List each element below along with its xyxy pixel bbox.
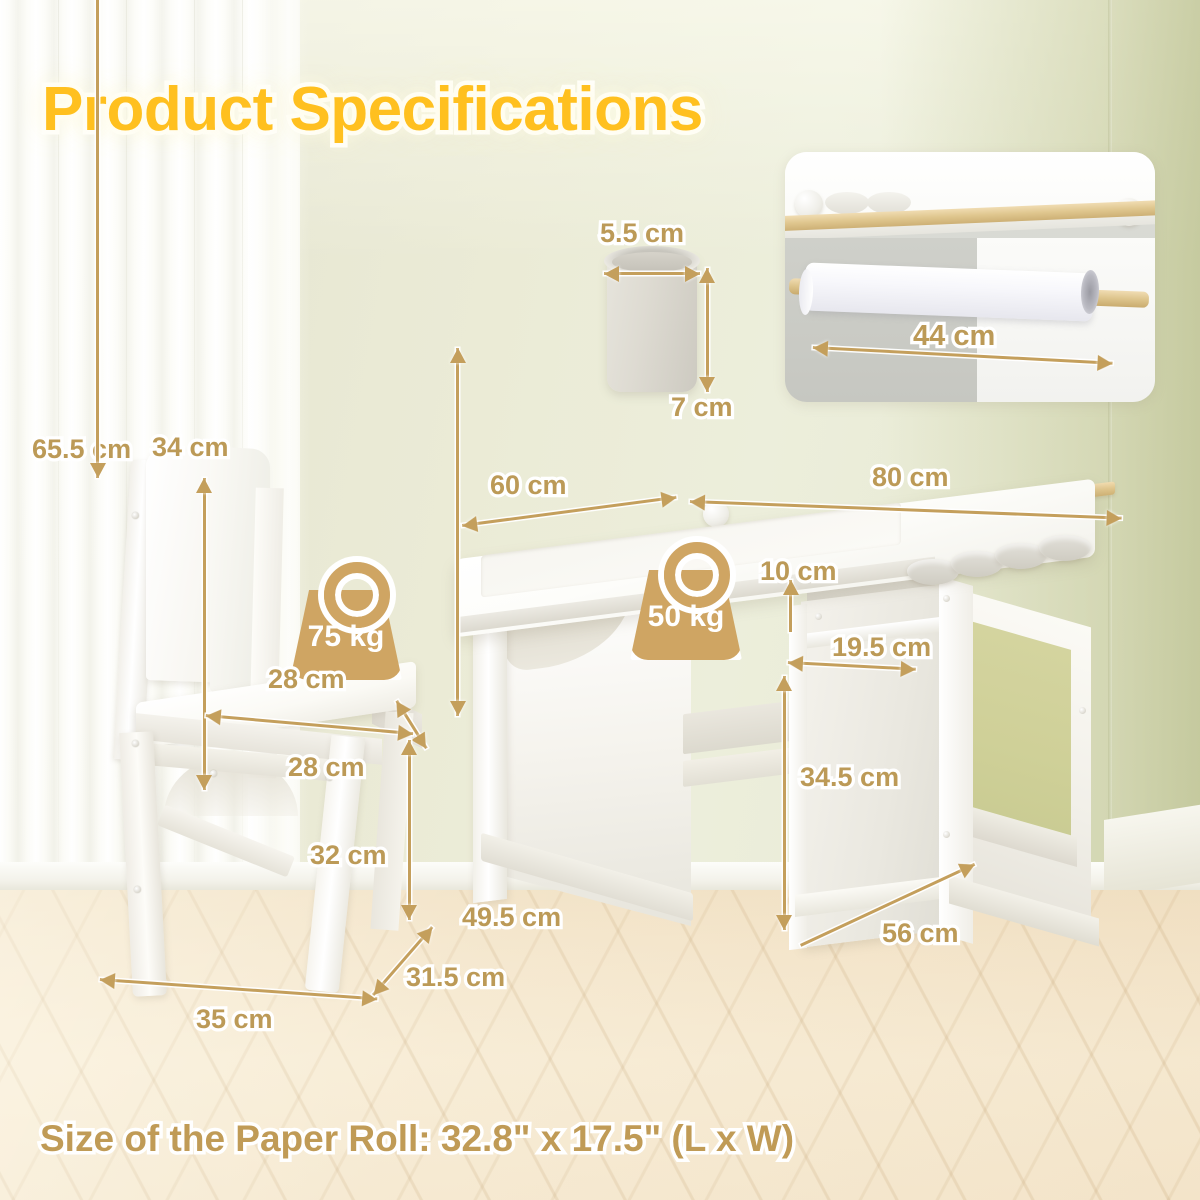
product-specification-image: Product Specifications: [0, 0, 1200, 1200]
desk-weight-capacity-text: 50 kg: [630, 600, 742, 634]
baseboard-right-wall: [1104, 805, 1200, 898]
desk-depth-label: 60 cm: [490, 470, 567, 501]
chair-weight-capacity-text: 75 kg: [290, 620, 402, 654]
desk-screw: [943, 595, 950, 602]
desk-width-label: 80 cm: [872, 462, 949, 493]
chair-base-width-label: 35 cm: [196, 1004, 273, 1035]
desk-height-label: 49.5 cm: [462, 902, 561, 933]
cup-width-label: 5.5 cm: [600, 218, 684, 249]
chair-leg-front-left: [119, 731, 167, 996]
chair-seat-height-label: 32 cm: [310, 840, 387, 871]
desk-screw: [943, 831, 950, 838]
page-title: Product Specifications: [42, 74, 703, 145]
desk-cabinet-depth-label: 56 cm: [882, 918, 959, 949]
paper-roll-length-label: 44 cm: [913, 320, 995, 353]
chair-weight-capacity-badge: 75 kg: [290, 560, 402, 680]
chair-screw: [134, 886, 141, 893]
curtain-fold: [58, 0, 59, 980]
chair-seat-depth-label: 28 cm: [288, 752, 365, 783]
desk-weight-capacity-badge: 50 kg: [630, 540, 742, 660]
desk-cubby-width-label: 19.5 cm: [832, 632, 931, 663]
cup-height-label: 7 cm: [671, 392, 733, 423]
chair-base-depth-label: 31.5 cm: [406, 962, 505, 993]
chair-back-height-label: 34 cm: [152, 432, 229, 463]
chair-screw: [132, 740, 139, 747]
chair-screw: [132, 512, 139, 519]
paint-cup-inner: [612, 252, 692, 272]
paper-roll-closeup-panel: 44 cm: [785, 152, 1155, 402]
desk-knob-left: [703, 501, 729, 527]
paint-cup-body: [607, 256, 697, 392]
desk-cabinet-height-label: 34.5 cm: [800, 762, 899, 793]
desk-screw: [815, 613, 822, 620]
desk-screw: [1079, 707, 1086, 714]
chair-seat-width-label: 28 cm: [268, 664, 345, 695]
paper-roll-size-note: Size of the Paper Roll: 32.8" x 17.5" (L…: [40, 1118, 794, 1160]
chair-total-height-label: 65.5 cm: [32, 434, 131, 465]
